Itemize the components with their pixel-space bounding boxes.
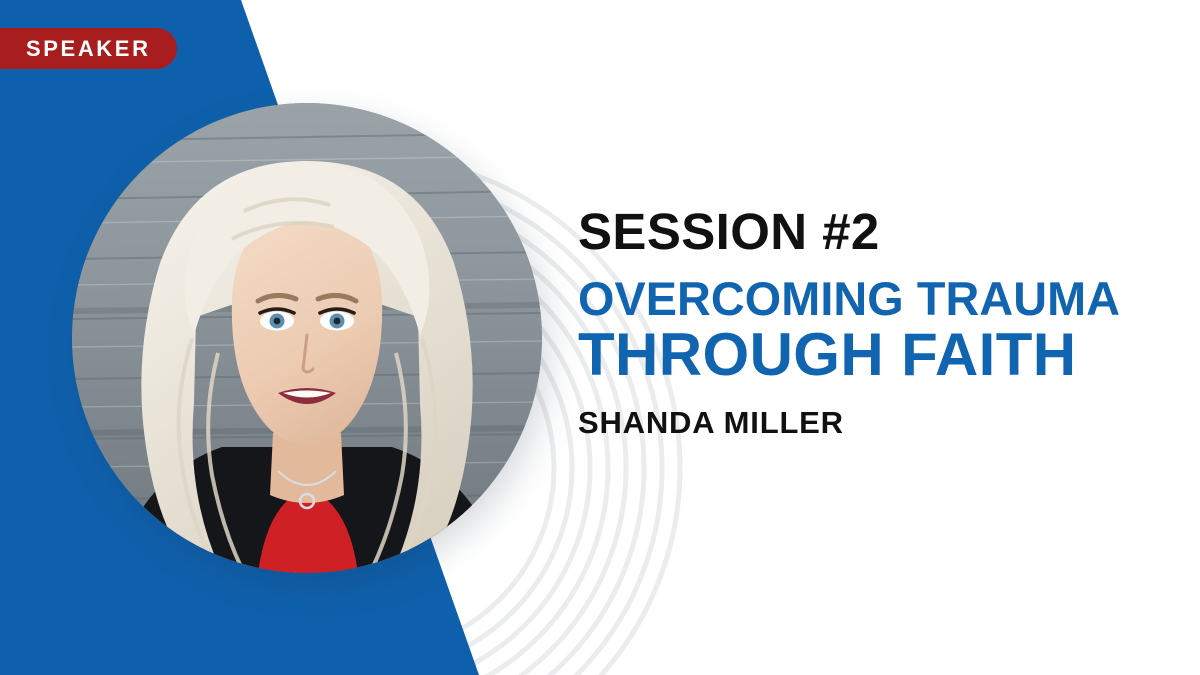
speaker-name: SHANDA MILLER	[578, 407, 1190, 438]
speaker-portrait	[72, 103, 542, 573]
speaker-badge: SPEAKER	[0, 28, 177, 69]
session-text-block: SESSION #2 OVERCOMING TRAUMA THROUGH FAI…	[578, 206, 1190, 438]
speaker-portrait-photo-icon	[72, 103, 542, 573]
session-label: SESSION #2	[578, 206, 1190, 258]
speaker-session-slide: SPEAKER	[0, 0, 1200, 675]
speaker-badge-label: SPEAKER	[26, 38, 151, 60]
session-title-line-2: THROUGH FAITH	[578, 325, 1190, 385]
session-title-line-1: OVERCOMING TRAUMA	[578, 275, 1187, 322]
